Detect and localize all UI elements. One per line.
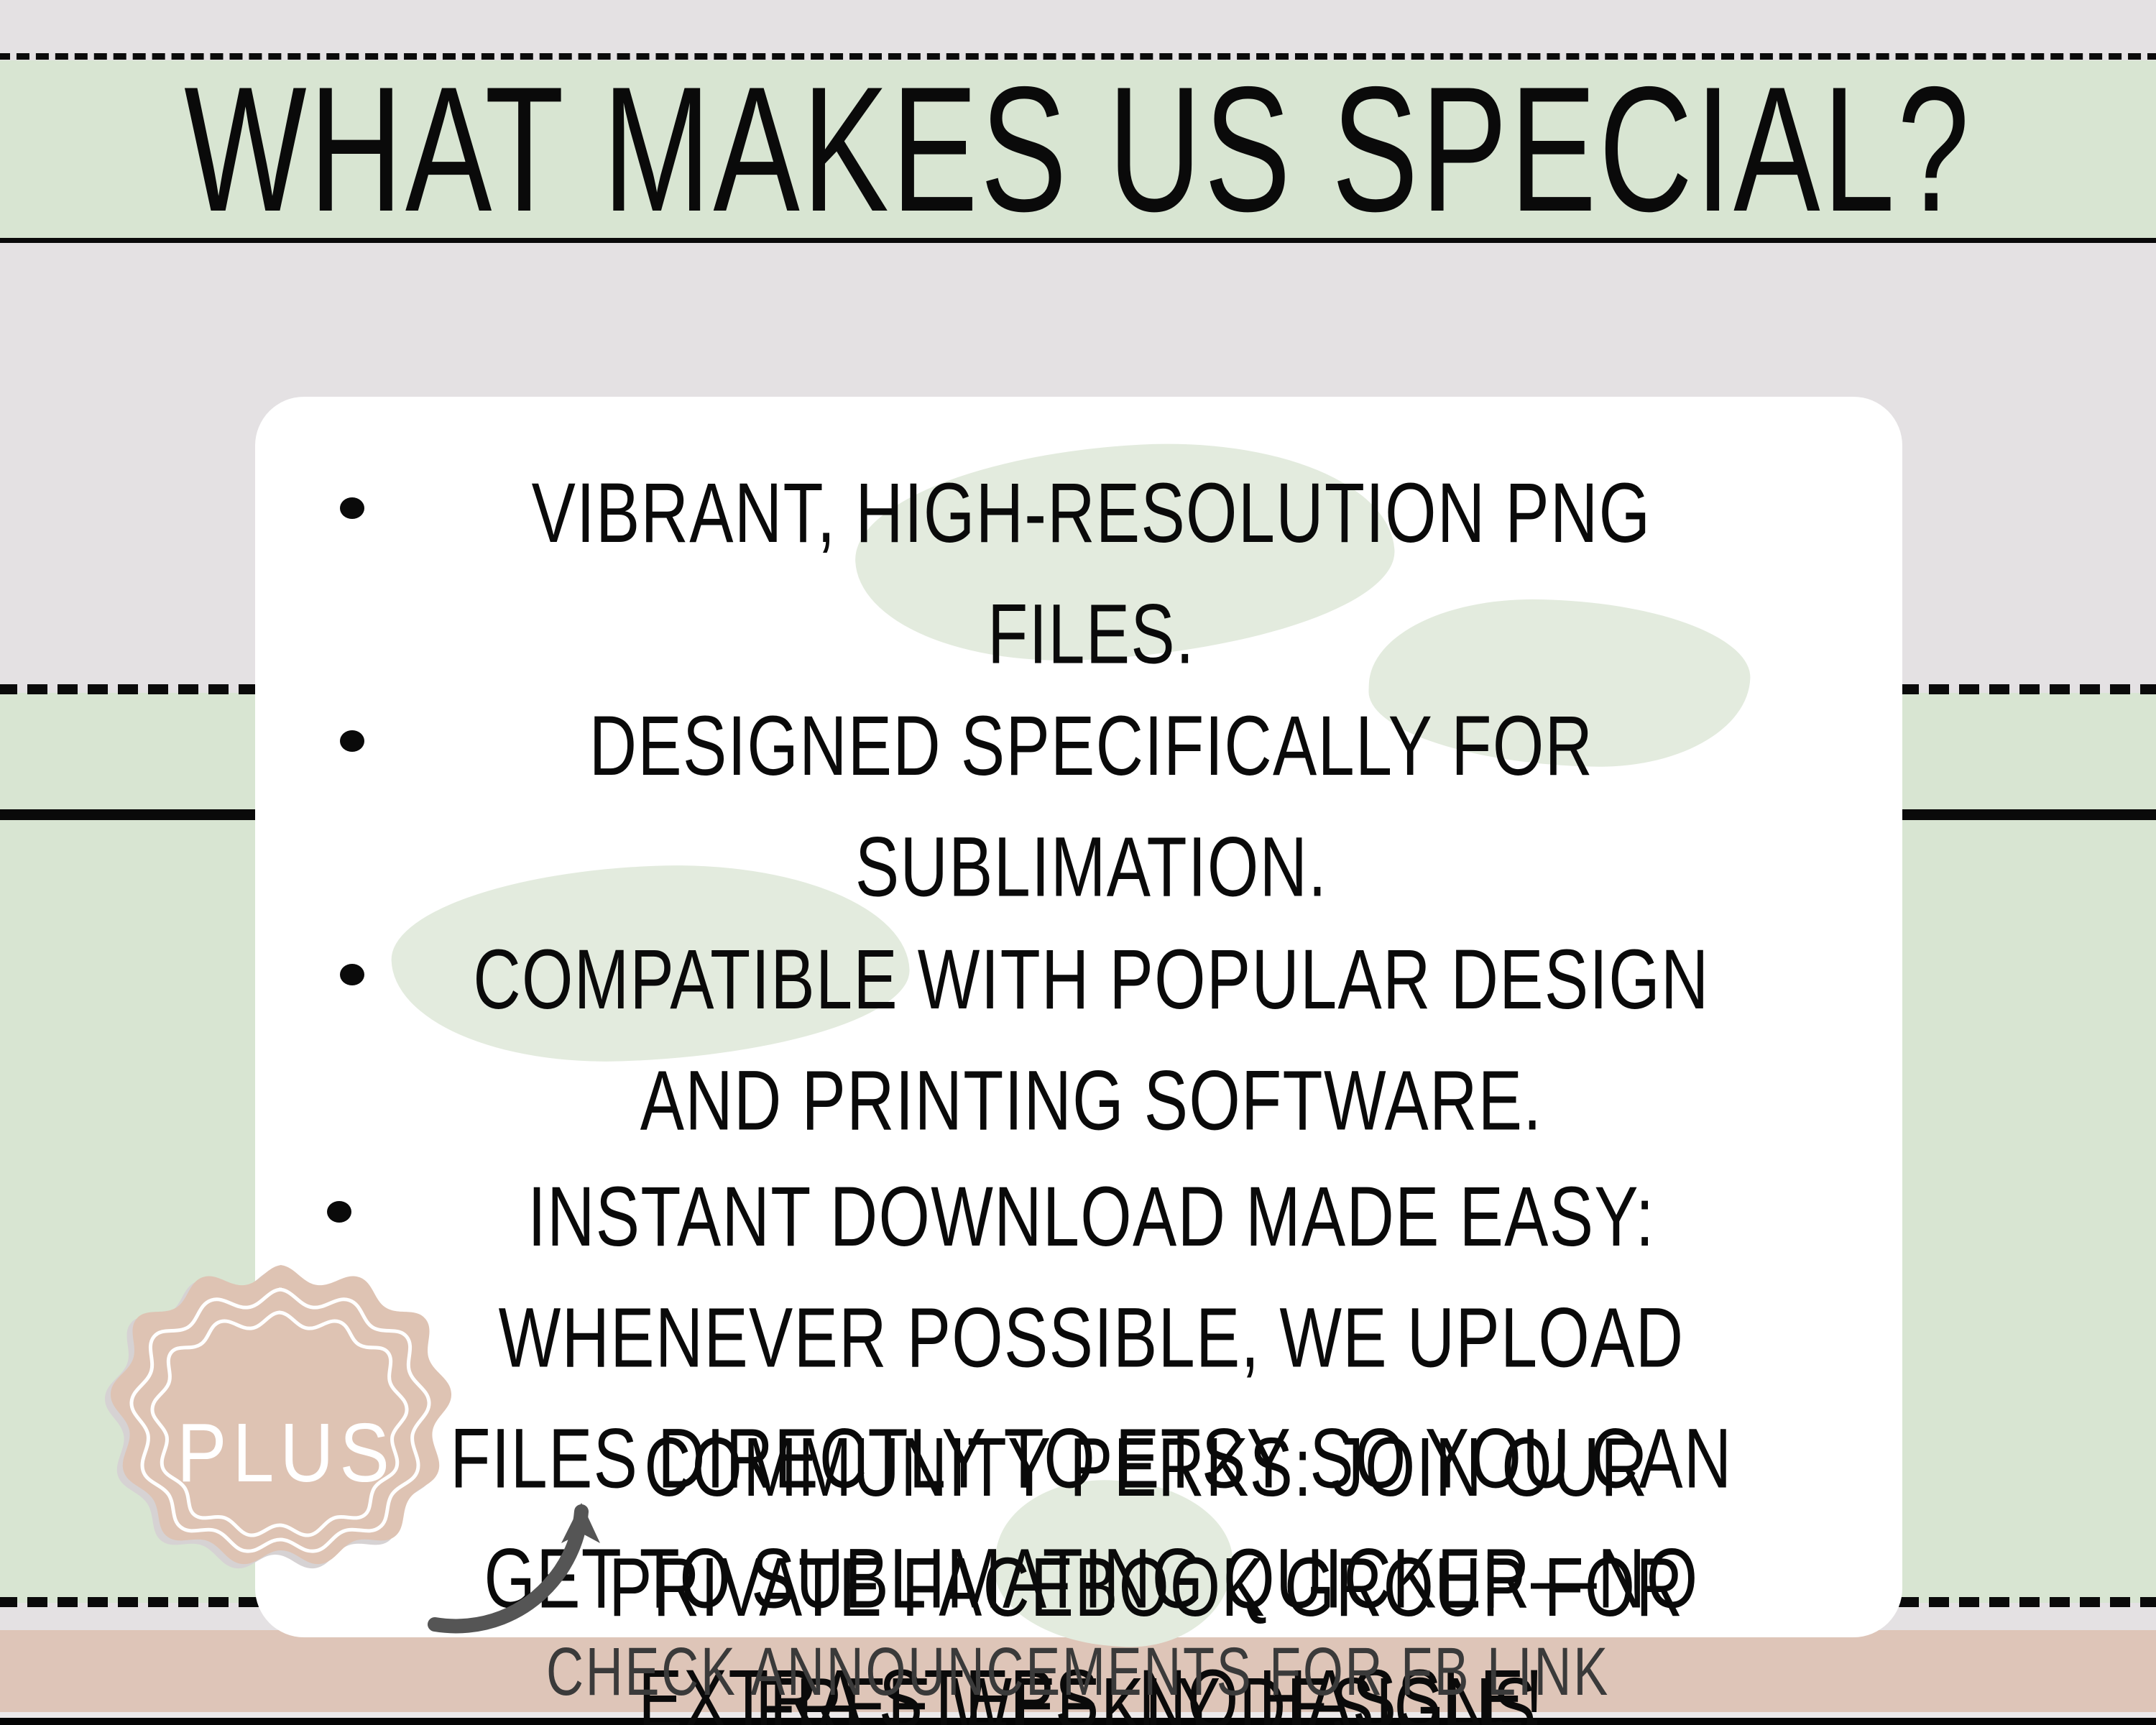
bullet-dot-icon <box>340 964 364 985</box>
page-title: WHAT MAKES US SPECIAL? <box>151 45 2005 255</box>
list-item: DESIGNED SPECIFICALLY FOR SUBLIMATION. <box>255 686 1902 894</box>
bullet-dot-icon <box>340 497 364 519</box>
list-item-label: DESIGNED SPECIFICALLY FOR SUBLIMATION. <box>441 686 1825 927</box>
bullet-dot-icon <box>327 1201 351 1223</box>
list-item: COMPATIBLE WITH POPULAR DESIGN AND PRINT… <box>255 919 1902 1128</box>
bullet-dot-icon <box>340 730 364 752</box>
list-item-label: VIBRANT, HIGH-RESOLUTION PNG FILES. <box>441 453 1825 694</box>
poster-canvas: WHAT MAKES US SPECIAL? VIBRANT, HIGH-RES… <box>0 0 2156 1725</box>
plus-badge-label: PLUS <box>99 1228 473 1678</box>
plus-badge: PLUS <box>99 1252 473 1655</box>
list-item: VIBRANT, HIGH-RESOLUTION PNG FILES. <box>255 453 1902 661</box>
footer-note: CHECK ANNOUNCEMENTS FOR FB LINK <box>108 1624 2048 1719</box>
list-item-label: COMPATIBLE WITH POPULAR DESIGN AND PRINT… <box>441 919 1825 1161</box>
